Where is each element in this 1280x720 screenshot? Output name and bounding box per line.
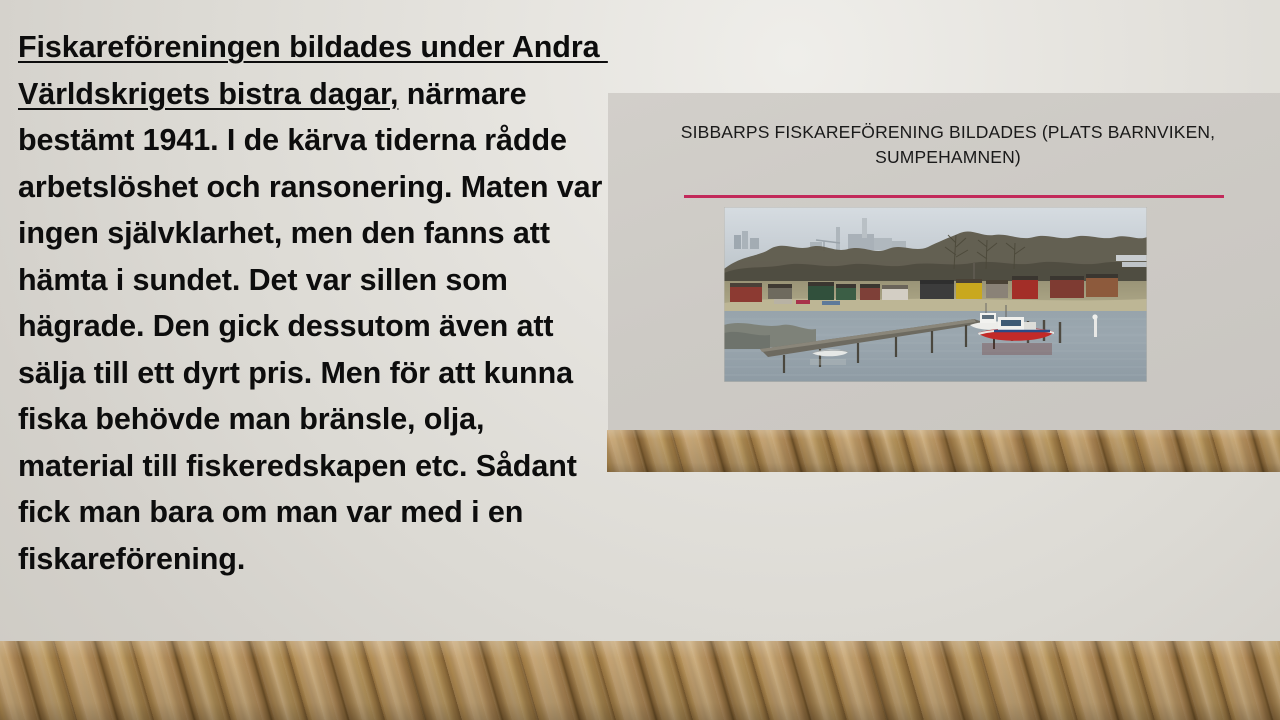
wood-plank-band-bottom	[0, 641, 1280, 720]
wood-plank-band-middle	[607, 430, 1280, 472]
panel-title: SIBBARPS FISKAREFÖRENING BILDADES (PLATS…	[668, 120, 1228, 170]
slide-canvas: Fiskareföreningen bildades under Andra V…	[0, 0, 1280, 720]
harbour-photo	[724, 207, 1147, 382]
body-paragraph-rest: närmare bestämt 1941. I de kärva tiderna…	[18, 77, 611, 576]
body-paragraph: Fiskareföreningen bildades under Andra V…	[18, 24, 608, 582]
harbour-photo-graphic	[724, 207, 1147, 382]
panel-divider-rule	[684, 195, 1224, 198]
